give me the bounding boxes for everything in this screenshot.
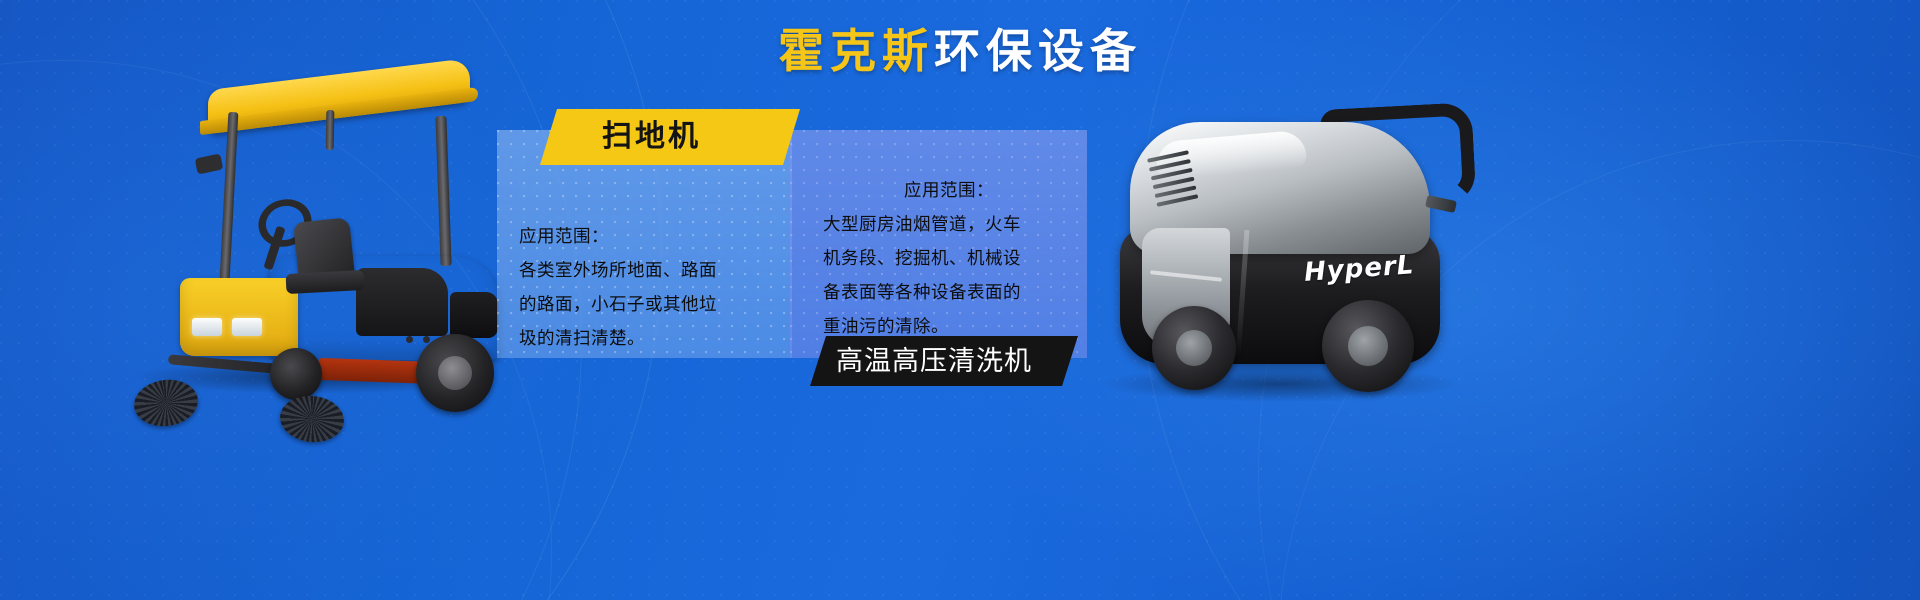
washer-copy-lead: 应用范围：	[823, 174, 1075, 208]
sweeper-mirror	[195, 153, 224, 174]
washer-copy: 应用范围：大型厨房油烟管道，火车 机务段、挖掘机、机械设 备表面等各种设备表面的…	[823, 140, 1075, 344]
sweeper-side-brush	[278, 393, 346, 445]
sweeper-canopy-post	[326, 110, 335, 150]
sweeper-rear-wheel	[416, 334, 494, 412]
sweeper-canopy-post	[220, 112, 239, 280]
sweeper-front-wheel	[270, 348, 322, 400]
washer-tag-label: 高温高压清洗机	[836, 348, 1032, 375]
banner-title-suffix: 环保设备	[934, 24, 1142, 78]
sweeper-copy: 应用范围：各类室外场所地面、路面 的路面，小石子或其他垃 圾的清扫清楚。	[519, 186, 781, 356]
washer-wheel	[1322, 300, 1414, 392]
sweeper-copy-lead: 应用范围：	[519, 220, 781, 254]
sweeper-copy-body: 各类室外场所地面、路面 的路面，小石子或其他垃 圾的清扫清楚。	[519, 261, 717, 349]
washer-tag[interactable]: 高温高压清洗机	[810, 336, 1078, 386]
washer-copy-body: 大型厨房油烟管道，火车 机务段、挖掘机、机械设 备表面等各种设备表面的 重油污的…	[823, 215, 1021, 337]
sweeper-seat-base	[286, 270, 365, 294]
sweeper-canopy-post	[435, 116, 451, 266]
sweeper-front-body	[180, 278, 298, 356]
sweeper-rivet-row	[406, 328, 478, 336]
promo-banner: 霍克斯环保设备 扫地机 应用范围：各类室外场所	[0, 0, 1920, 600]
sweeper-product-image	[120, 60, 510, 405]
sweeper-headlight	[192, 318, 222, 336]
washer-wheel	[1152, 306, 1236, 390]
pressure-washer-product-image: HyperL	[1090, 78, 1470, 418]
sweeper-tag-label: 扫地机	[602, 122, 701, 152]
sweeper-headlight	[232, 318, 262, 336]
banner-title-brand: 霍克斯	[778, 24, 934, 78]
sweeper-tag[interactable]: 扫地机	[540, 109, 800, 165]
sweeper-hopper	[356, 268, 448, 336]
